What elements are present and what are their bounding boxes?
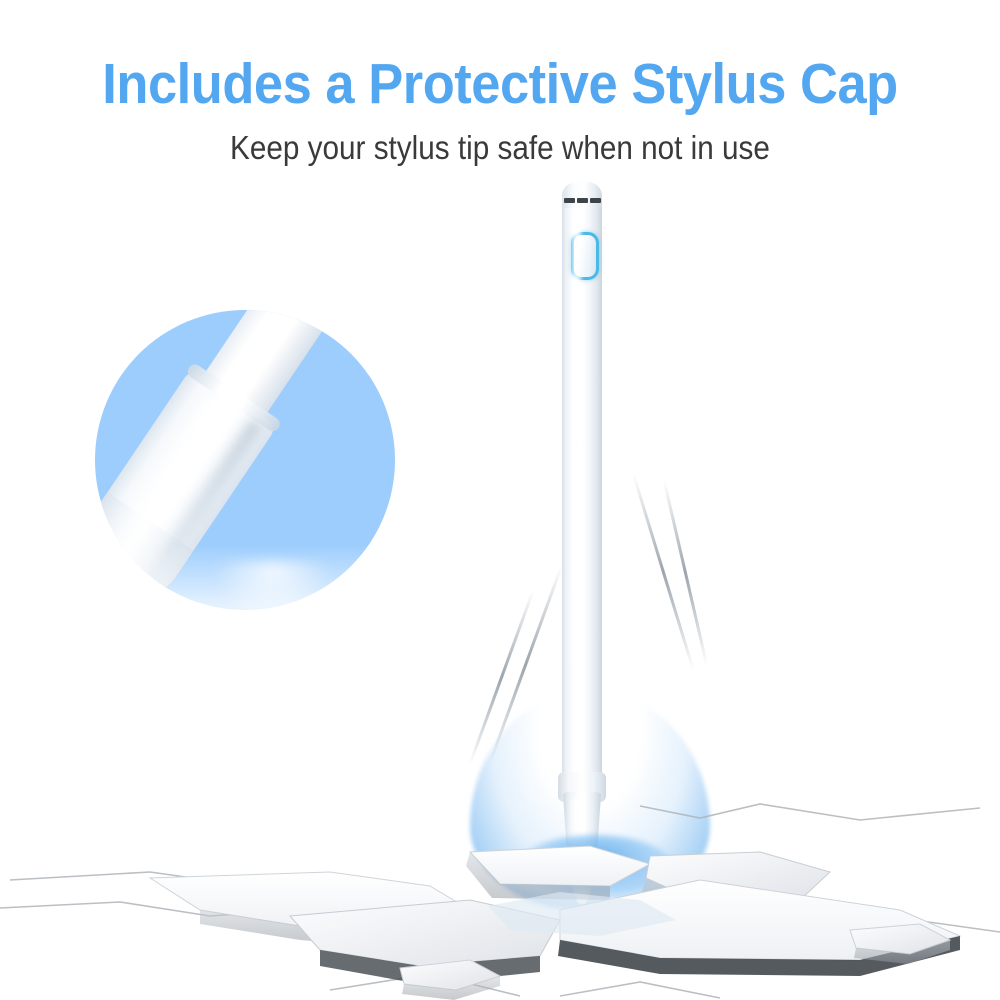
motion-line-icon [663,480,709,666]
inset-clip [95,310,395,610]
cap-closeup-inset [95,310,395,660]
page-title: Includes a Protective Stylus Cap [40,52,960,116]
page-subtitle: Keep your stylus tip safe when not in us… [50,126,950,170]
cap-reflection [213,562,333,610]
indicator-dash-icon [590,198,601,203]
cracked-ground [0,760,1000,1000]
pen-gloss-highlight [572,210,581,770]
indicator-dash-icon [564,198,575,203]
stylus-pen [556,180,608,860]
product-feature-panel: Includes a Protective Stylus Cap Keep yo… [0,0,1000,1000]
pen-top-cap [562,182,602,208]
indicator-dash-icon [577,198,588,203]
